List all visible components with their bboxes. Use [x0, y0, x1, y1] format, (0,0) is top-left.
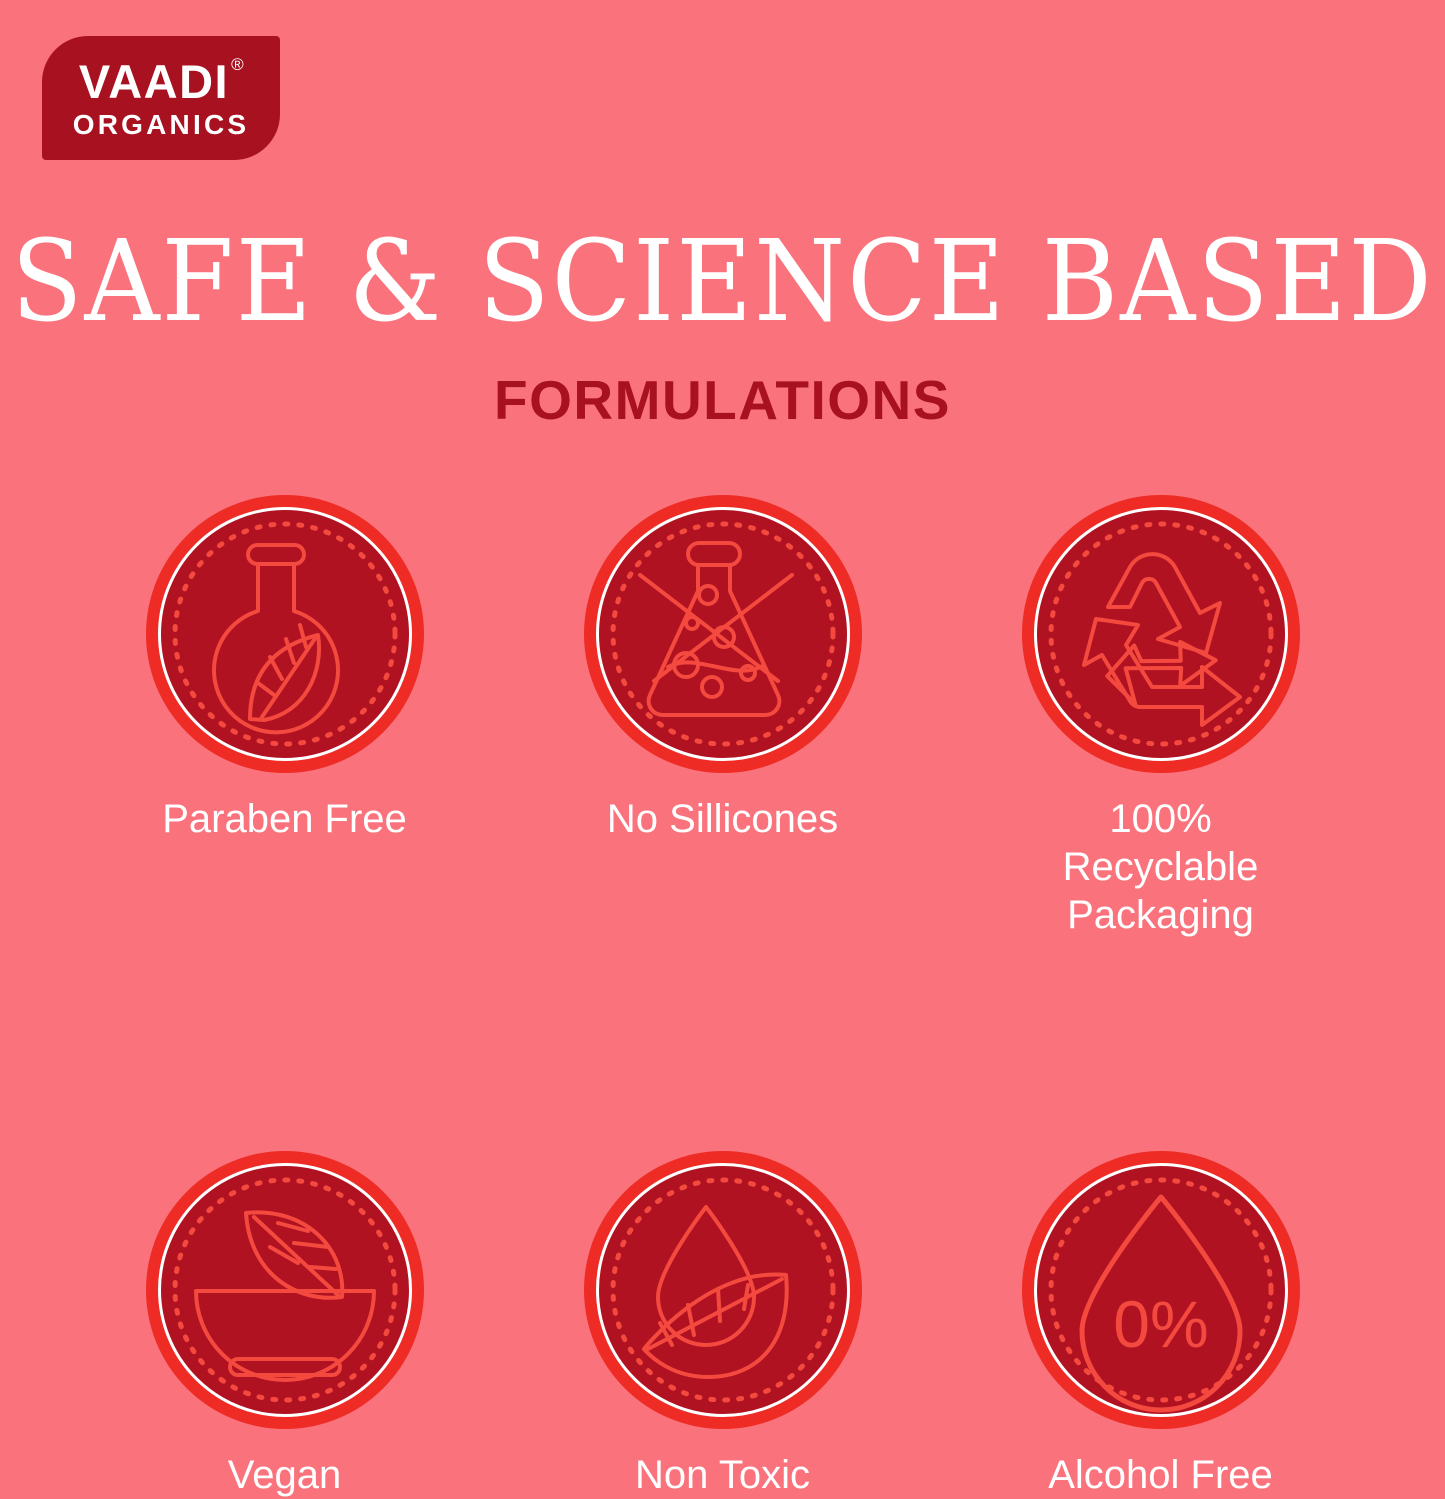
mortar-bowl-leaf-icon	[158, 1163, 412, 1417]
badge-circle	[584, 1151, 862, 1429]
badge-row-1: Paraben Free	[0, 495, 1445, 939]
badge-label: Vegan	[228, 1451, 341, 1499]
badge-item-no-sillicones: No Sillicones	[578, 495, 868, 939]
badge-item-vegan: Vegan	[140, 1151, 430, 1499]
badge-item-recyclable-packaging: 100% Recyclable Packaging	[1016, 495, 1306, 939]
brand-name-text: VAADI	[79, 55, 229, 108]
flask-leaf-icon	[158, 507, 412, 761]
badge-circle: 0%	[1022, 1151, 1300, 1429]
badge-label: Alcohol Free	[1048, 1451, 1273, 1499]
flask-crossed-out-icon	[596, 507, 850, 761]
droplet-zero-percent-icon: 0%	[1034, 1163, 1288, 1417]
brand-logo: VAADI ® ORGANICS	[42, 36, 280, 160]
brand-tagline: ORGANICS	[73, 111, 250, 139]
badge-row-2: Vegan Non Toxic	[0, 1151, 1445, 1499]
recycle-icon	[1034, 507, 1288, 761]
badge-grid: Paraben Free	[0, 495, 1445, 1499]
page-title: SAFE & SCIENCE BASED	[0, 225, 1445, 337]
badge-circle	[146, 1151, 424, 1429]
registered-trademark-icon: ®	[231, 56, 245, 73]
badge-label: Paraben Free	[162, 795, 407, 843]
badge-label: No Sillicones	[607, 795, 838, 843]
badge-circle	[146, 495, 424, 773]
badge-label: Non Toxic	[635, 1451, 810, 1499]
badge-item-paraben-free: Paraben Free	[140, 495, 430, 939]
zero-percent-text: 0%	[1113, 1287, 1208, 1361]
badge-circle	[1022, 495, 1300, 773]
badge-item-alcohol-free: 0% Alcohol Free	[1016, 1151, 1306, 1499]
badge-label: 100% Recyclable Packaging	[1016, 795, 1306, 939]
brand-name: VAADI ®	[79, 58, 243, 105]
page-subtitle: FORMULATIONS	[0, 373, 1445, 428]
badge-item-non-toxic: Non Toxic	[578, 1151, 868, 1499]
badge-circle	[584, 495, 862, 773]
droplet-leaf-icon	[596, 1163, 850, 1417]
